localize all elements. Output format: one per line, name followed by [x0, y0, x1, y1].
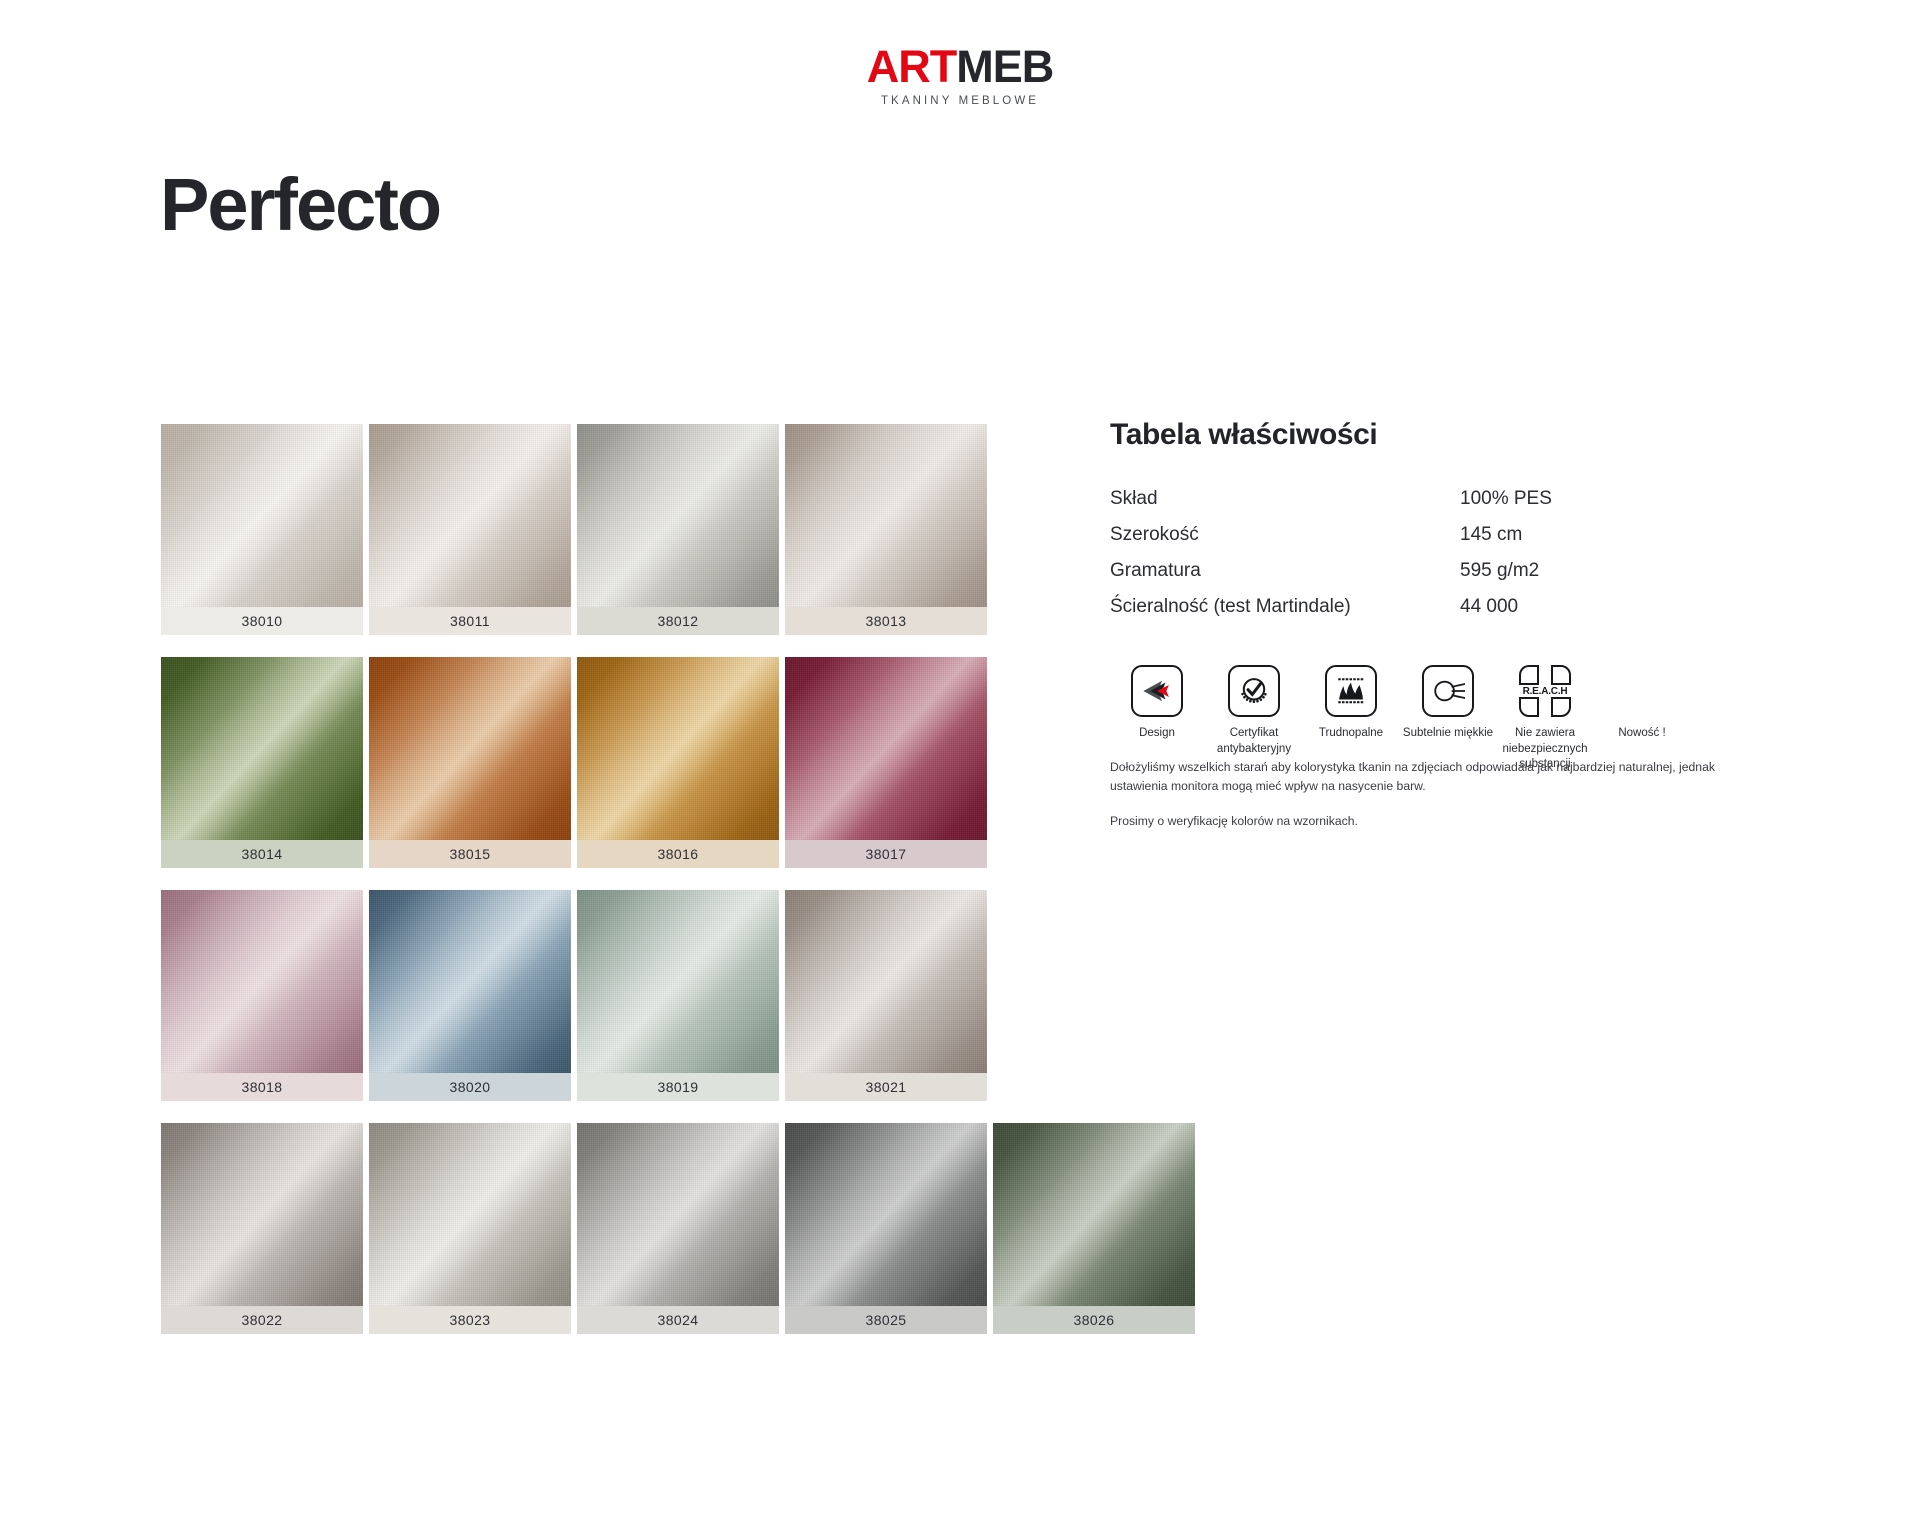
specification-row: Skład100% PES: [1110, 488, 1690, 524]
swatch-image: [577, 657, 779, 840]
feature-new-label: Nowość !: [1595, 665, 1689, 739]
fabric-swatch-38020[interactable]: 38020: [369, 890, 571, 1101]
fabric-swatch-38013[interactable]: 38013: [785, 424, 987, 635]
feature-label: Certyfikat antybakteryjny: [1207, 726, 1301, 756]
feature-soft-touch: Subtelnie miękkie: [1401, 665, 1495, 741]
feature-design-arrow: Design: [1110, 665, 1204, 741]
swatch-image: [785, 657, 987, 840]
feature-reach: R.E.A.C.HNie zawiera niebezpiecznych sub…: [1498, 665, 1592, 772]
swatch-image: [161, 890, 363, 1073]
feature-icons-row: DesignCertyfikat antybakteryjnyTrudnopal…: [1110, 665, 1810, 772]
properties-panel: Tabela właściwości Skład100% PESSzerokoś…: [1110, 418, 1810, 772]
fabric-swatch-38010[interactable]: 38010: [161, 424, 363, 635]
swatch-code-label: 38015: [369, 840, 571, 868]
specification-row: Szerokość145 cm: [1110, 524, 1690, 560]
specification-row: Gramatura595 g/m2: [1110, 560, 1690, 596]
specification-value: 145 cm: [1460, 524, 1690, 560]
flame-retardant-icon: [1325, 665, 1377, 717]
swatch-image: [161, 657, 363, 840]
fabric-swatch-38025[interactable]: 38025: [785, 1123, 987, 1334]
swatch-image: [785, 1123, 987, 1306]
swatch-image: [369, 424, 571, 607]
swatch-row: 38014380153801638017: [161, 657, 1101, 868]
swatch-code-label: 38023: [369, 1306, 571, 1334]
fabric-swatch-38015[interactable]: 38015: [369, 657, 571, 868]
fabric-swatch-38026[interactable]: 38026: [993, 1123, 1195, 1334]
fabric-swatch-38012[interactable]: 38012: [577, 424, 779, 635]
fabric-swatch-38022[interactable]: 38022: [161, 1123, 363, 1334]
specification-label: Skład: [1110, 488, 1460, 524]
specifications-table-body: Skład100% PESSzerokość145 cmGramatura595…: [1110, 488, 1690, 631]
swatch-image: [577, 890, 779, 1073]
swatch-code-label: 38010: [161, 607, 363, 635]
feature-antibacterial-check: Certyfikat antybakteryjny: [1207, 665, 1301, 756]
swatch-code-label: 38026: [993, 1306, 1195, 1334]
reach-corner-bracket: [1519, 665, 1539, 685]
fabric-swatch-38021[interactable]: 38021: [785, 890, 987, 1101]
fabric-swatch-38019[interactable]: 38019: [577, 890, 779, 1101]
brand-tagline: TKANINY MEBLOWE: [0, 95, 1920, 107]
swatch-code-label: 38024: [577, 1306, 779, 1334]
swatch-code-label: 38012: [577, 607, 779, 635]
swatch-image: [369, 657, 571, 840]
swatch-image: [161, 1123, 363, 1306]
design-arrow-icon: [1131, 665, 1183, 717]
fabric-swatch-38024[interactable]: 38024: [577, 1123, 779, 1334]
fabric-swatch-38023[interactable]: 38023: [369, 1123, 571, 1334]
specification-row: Ścieralność (test Martindale)44 000: [1110, 596, 1690, 632]
disclaimer-paragraph-1: Dołożyliśmy wszelkich starań aby kolorys…: [1110, 758, 1750, 796]
fabric-swatch-38016[interactable]: 38016: [577, 657, 779, 868]
swatch-image: [993, 1123, 1195, 1306]
fabric-swatch-38017[interactable]: 38017: [785, 657, 987, 868]
swatch-code-label: 38013: [785, 607, 987, 635]
specification-label: Szerokość: [1110, 524, 1460, 560]
swatch-image: [369, 1123, 571, 1306]
antibacterial-check-icon: [1228, 665, 1280, 717]
reach-icon: R.E.A.C.H: [1519, 665, 1571, 717]
feature-label: Design: [1110, 726, 1204, 741]
brand-wordmark: ARTMEB: [0, 44, 1920, 89]
feature-flame-retardant: Trudnopalne: [1304, 665, 1398, 741]
swatch-code-label: 38025: [785, 1306, 987, 1334]
specification-value: 100% PES: [1460, 488, 1690, 524]
swatch-image: [785, 424, 987, 607]
swatch-row: 3802238023380243802538026: [161, 1123, 1101, 1334]
swatch-code-label: 38019: [577, 1073, 779, 1101]
swatch-image: [577, 1123, 779, 1306]
feature-label: Trudnopalne: [1304, 726, 1398, 741]
swatch-code-label: 38017: [785, 840, 987, 868]
reach-badge-text: R.E.A.C.H: [1523, 686, 1568, 697]
swatch-code-label: 38011: [369, 607, 571, 635]
fabric-swatch-grid: 3801038011380123801338014380153801638017…: [161, 424, 1101, 1356]
fabric-swatch-38014[interactable]: 38014: [161, 657, 363, 868]
specification-label: Gramatura: [1110, 560, 1460, 596]
swatch-code-label: 38020: [369, 1073, 571, 1101]
specification-label: Ścieralność (test Martindale): [1110, 596, 1460, 632]
soft-touch-icon: [1422, 665, 1474, 717]
swatch-row: 38010380113801238013: [161, 424, 1101, 635]
swatch-image: [577, 424, 779, 607]
swatch-code-label: 38022: [161, 1306, 363, 1334]
color-disclaimer: Dołożyliśmy wszelkich starań aby kolorys…: [1110, 758, 1750, 831]
swatch-image: [369, 890, 571, 1073]
disclaimer-paragraph-2: Prosimy o weryfikację kolorów na wzornik…: [1110, 812, 1750, 831]
reach-corner-bracket: [1519, 697, 1539, 717]
swatch-image: [161, 424, 363, 607]
swatch-code-label: 38014: [161, 840, 363, 868]
brand-logo: ARTMEB TKANINY MEBLOWE: [0, 44, 1920, 107]
fabric-swatch-38018[interactable]: 38018: [161, 890, 363, 1101]
specification-value: 595 g/m2: [1460, 560, 1690, 596]
properties-heading: Tabela właściwości: [1110, 418, 1810, 452]
swatch-code-label: 38018: [161, 1073, 363, 1101]
swatch-image: [785, 890, 987, 1073]
brand-name-art: ART: [867, 41, 956, 92]
reach-corner-bracket: [1551, 665, 1571, 685]
reach-corner-bracket: [1551, 697, 1571, 717]
feature-label: Subtelnie miękkie: [1401, 726, 1495, 741]
swatch-row: 38018380203801938021: [161, 890, 1101, 1101]
swatch-code-label: 38021: [785, 1073, 987, 1101]
page-title: Perfecto: [160, 168, 440, 242]
specification-value: 44 000: [1460, 596, 1690, 632]
fabric-swatch-38011[interactable]: 38011: [369, 424, 571, 635]
brand-name-meb: MEB: [956, 41, 1053, 92]
specifications-table: Skład100% PESSzerokość145 cmGramatura595…: [1110, 488, 1690, 631]
swatch-code-label: 38016: [577, 840, 779, 868]
